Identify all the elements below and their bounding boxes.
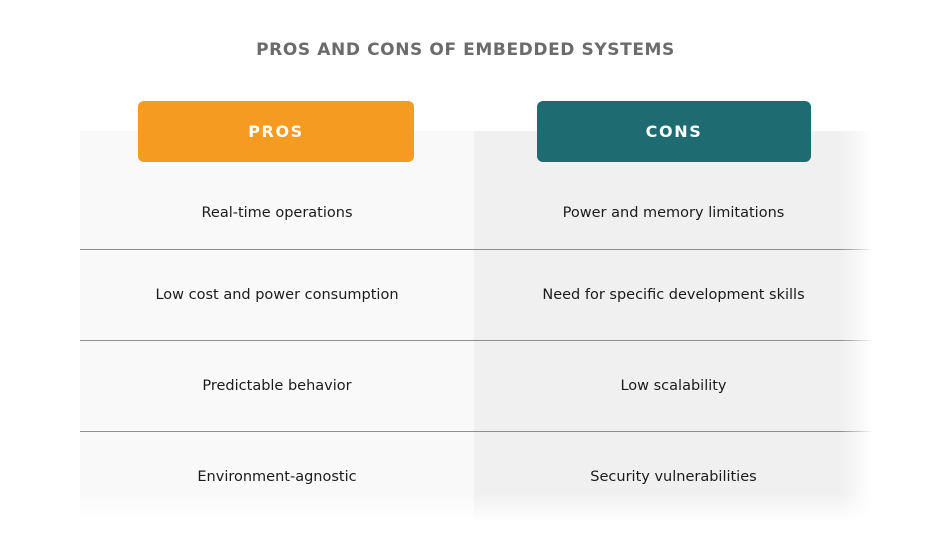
pros-item-2: Low cost and power consumption — [80, 249, 474, 340]
cons-item-4: Security vulnerabilities — [474, 431, 873, 522]
pros-header-badge: PROS — [138, 101, 414, 162]
pros-item-3: Predictable behavior — [80, 340, 474, 431]
cons-item-3: Low scalability — [474, 340, 873, 431]
cons-header-badge: CONS — [537, 101, 811, 162]
cons-item-2: Need for specific development skills — [474, 249, 873, 340]
cons-column: Power and memory limitations Need for sp… — [474, 131, 873, 521]
pros-item-4: Environment-agnostic — [80, 431, 474, 522]
row-divider-3 — [80, 431, 873, 432]
comparison-table-infographic: PROS AND CONS OF EMBEDDED SYSTEMS Real-t… — [0, 0, 931, 544]
comparison-table: Real-time operations Low cost and power … — [80, 131, 873, 521]
row-divider-1 — [80, 249, 873, 250]
page-title: PROS AND CONS OF EMBEDDED SYSTEMS — [0, 40, 931, 60]
pros-column: Real-time operations Low cost and power … — [80, 131, 474, 521]
row-divider-2 — [80, 340, 873, 341]
